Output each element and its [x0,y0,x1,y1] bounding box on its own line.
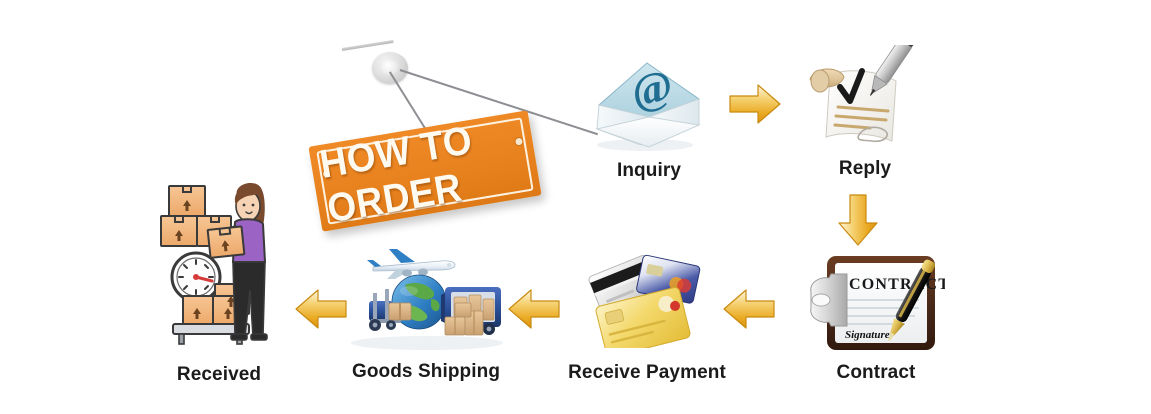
label-contract: Contract [756,362,996,384]
svg-text:CONTRACT: CONTRACT [849,276,945,293]
hook-bar-icon [342,40,394,51]
clipboard-pen-icon: CONTRACT Signature [805,248,945,358]
how-to-order-sign: HOW TO ORDER [308,110,541,231]
svg-text:Signature: Signature [845,329,890,341]
parcel-scale-icon [155,178,285,358]
arrow-contract-to-payment [721,287,777,331]
infographic-canvas: HOW TO ORDER [0,0,1151,414]
credit-cards-icon [585,248,705,348]
arrow-shipping-to-received [293,287,349,331]
arrow-inquiry-to-reply [727,82,783,126]
sign-title-text: HOW TO ORDER [317,112,533,231]
arrow-payment-to-shipping [506,287,562,331]
hook-knob-icon [372,52,408,84]
svg-text:@: @ [627,60,677,116]
scroll-pen-icon [800,45,930,155]
label-goods-shipping: Goods Shipping [306,361,546,383]
envelope-at-icon: @ [575,55,715,155]
label-reply: Reply [745,158,985,180]
label-received: Received [99,364,339,386]
label-inquiry: Inquiry [529,160,769,182]
arrow-reply-to-contract [836,192,880,248]
label-receive-payment: Receive Payment [527,362,767,384]
how-to-order-sign-group: HOW TO ORDER [300,35,550,240]
shipping-icon [345,245,510,355]
